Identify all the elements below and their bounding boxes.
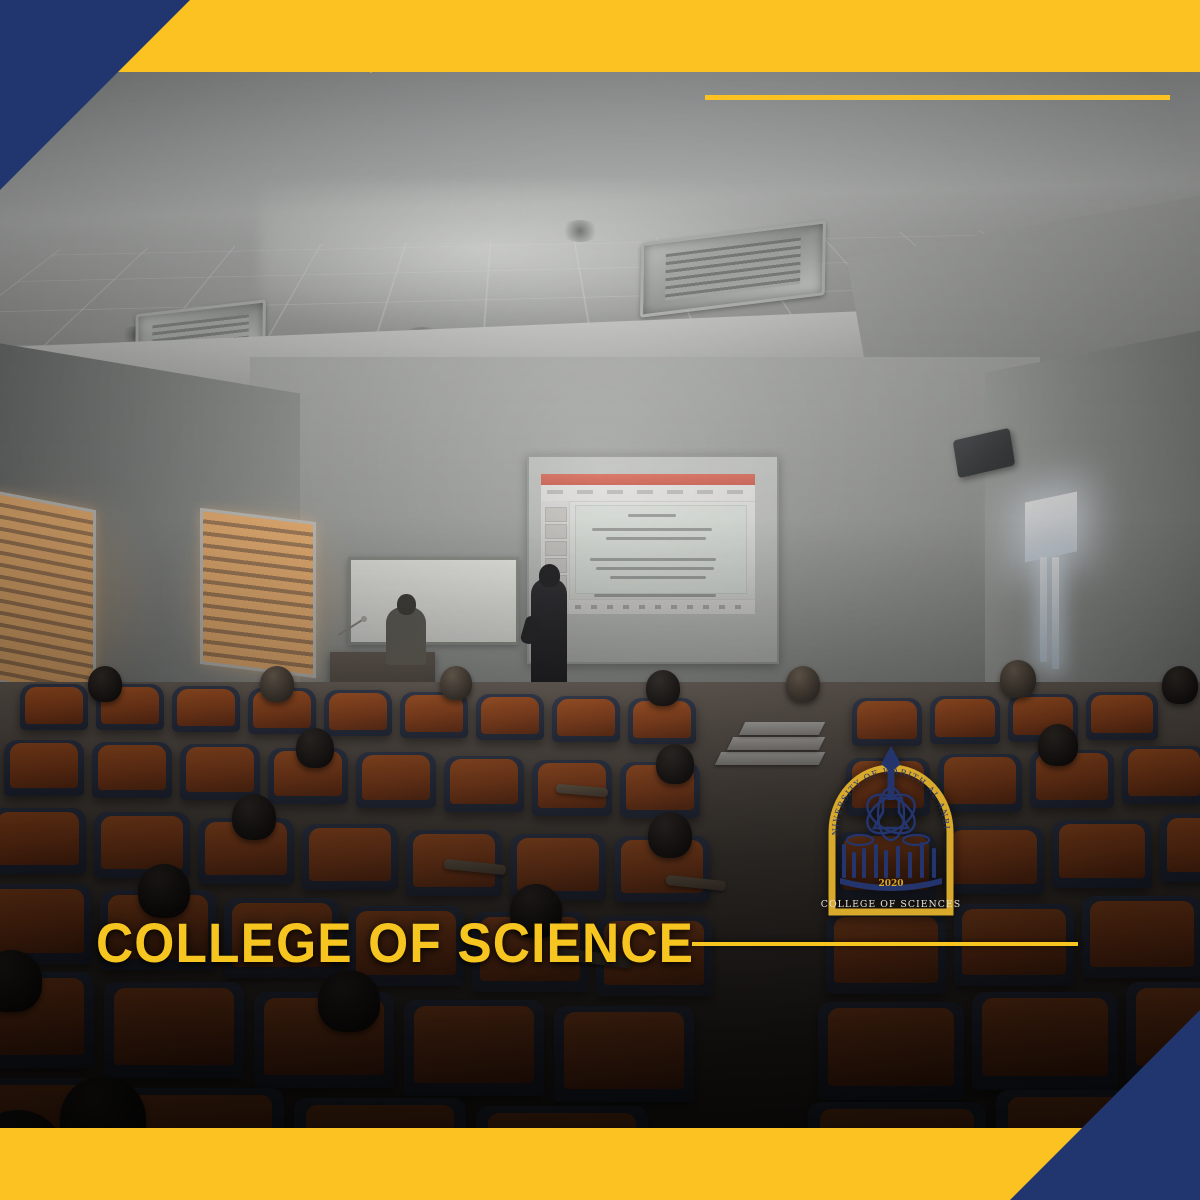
seat: [404, 1000, 544, 1096]
attendee-head: [296, 728, 334, 768]
seat: [1122, 746, 1200, 804]
title-block: COLLEGE OF SCIENCE: [0, 908, 1200, 978]
top-yellow-rule: [705, 95, 1170, 100]
seat: [324, 690, 392, 736]
seat: [302, 824, 398, 890]
seat: [972, 992, 1118, 1090]
seat: [92, 742, 172, 798]
attendee-head: [440, 666, 472, 700]
seat: [356, 752, 436, 808]
seat: [1160, 814, 1200, 882]
logo-atom-nucleus: [888, 790, 894, 796]
logo-bottom-text: COLLEGE OF SCIENCES: [821, 899, 961, 910]
seat: [172, 686, 240, 732]
seat: [476, 694, 544, 740]
attendee-head: [786, 666, 820, 702]
seat: [0, 808, 86, 874]
bottom-yellow-band: [0, 1128, 1200, 1200]
attendee-head: [88, 666, 122, 702]
seat: [1052, 820, 1152, 888]
seat: [1086, 692, 1158, 740]
attendee-head: [1162, 666, 1198, 704]
seat: [552, 696, 620, 742]
attendee-head: [318, 970, 380, 1032]
logo-arch-text: UNIVERSITY OF WARITH AL-ANBIYA: [812, 736, 952, 836]
attendee-head: [1000, 660, 1036, 698]
attendee-head: [646, 670, 680, 706]
seat: [104, 982, 244, 1078]
university-logo: UNIVERSITY OF WARITH AL-ANBIYA: [812, 736, 970, 936]
top-yellow-tick-accent: [322, 69, 366, 103]
logo-year: 2020: [878, 879, 903, 889]
seat: [808, 1102, 986, 1128]
top-yellow-band: [0, 0, 1200, 72]
attendee-head: [1038, 724, 1078, 766]
poster-canvas: COLLEGE OF SCIENCE UNIVERSITY OF WARITH …: [0, 0, 1200, 1200]
attendee-head: [260, 666, 294, 702]
seat: [476, 1106, 648, 1128]
title-underline-rule: [692, 942, 1078, 946]
attendee-head: [648, 812, 692, 858]
page-title: COLLEGE OF SCIENCE: [96, 915, 694, 971]
attendee-head: [656, 744, 694, 784]
seat: [444, 756, 524, 812]
seat: [4, 740, 84, 796]
seat: [180, 744, 260, 800]
attendee-head: [232, 794, 276, 840]
seat: [818, 1002, 964, 1100]
seat: [20, 684, 88, 730]
seat: [554, 1006, 694, 1102]
seat: [294, 1098, 466, 1128]
